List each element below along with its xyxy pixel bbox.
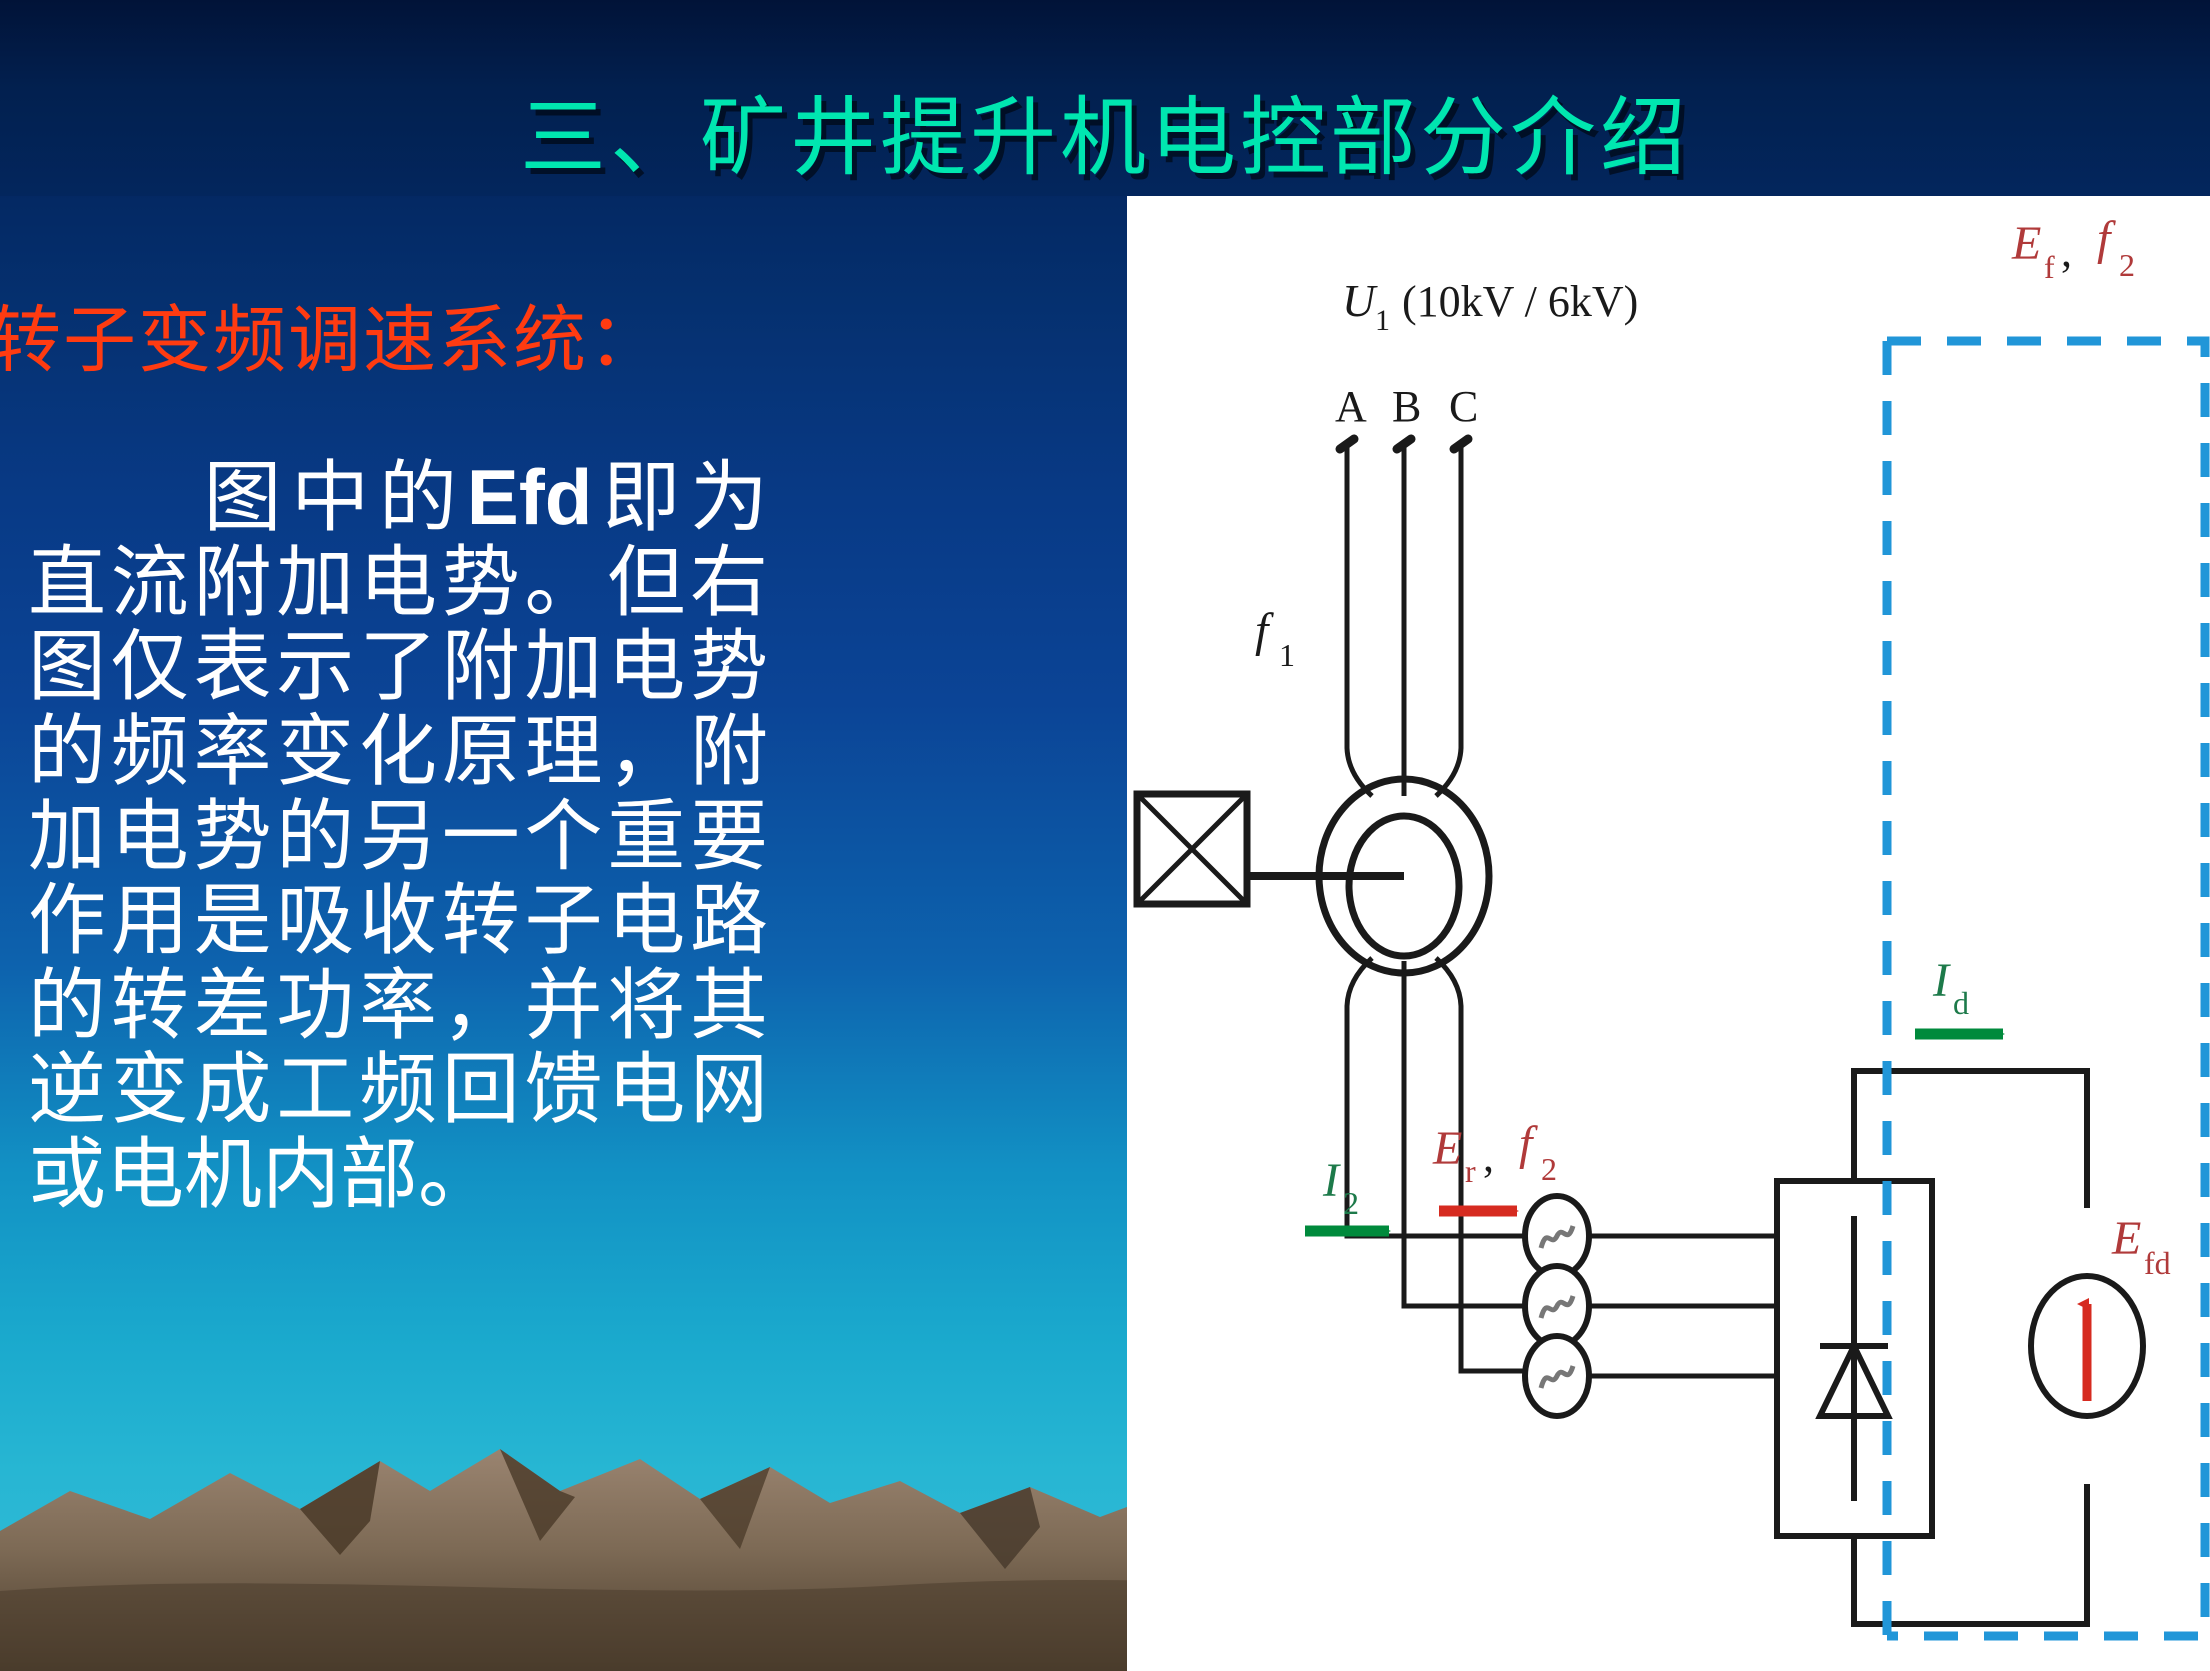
label-rotor-emf-sub: r: [1465, 1153, 1476, 1189]
label-phase-a: A: [1335, 382, 1367, 431]
label-rotor-current-sub: 2: [1343, 1185, 1359, 1221]
label-rotor-freq: f: [1519, 1117, 1538, 1170]
label-freq-primary-sub: 1: [1279, 637, 1295, 673]
thyristor-symbol: [1820, 1216, 1888, 1501]
body-text-bold: Efd: [467, 453, 593, 541]
label-phase-b: B: [1392, 382, 1421, 431]
label-freq-primary: f: [1255, 604, 1274, 657]
label-supply-voltage-paren: (10kV / 6kV): [1402, 277, 1638, 326]
label-added-emf-field-comma: ,: [2061, 227, 2072, 276]
label-phase-c: C: [1449, 382, 1478, 431]
label-added-emf-field-sub: f: [2044, 249, 2055, 285]
label-rotor-emf-comma: ,: [1483, 1132, 1494, 1181]
body-paragraph: 图中的Efd即为直流附加电势。但右图仅表示了附加电势的频率变化原理，附加电势的另…: [28, 455, 768, 1218]
label-added-emf-dc-sub: fd: [2144, 1245, 2171, 1281]
ac-source-symbols: [1525, 1196, 1589, 1416]
circuit-diagram-svg: U 1 (10kV / 6kV) A B C f 1: [1127, 196, 2210, 1671]
label-dc-current: I: [1932, 954, 1951, 1007]
slide-root: 三、矿井提升机电控部分介绍 转子变频调速系统： 图中的Efd即为直流附加电势。但…: [0, 0, 2210, 1671]
section-subheading: 转子变频调速系统：: [0, 304, 663, 377]
label-rotor-current: I: [1322, 1154, 1341, 1207]
label-rotor-freq-sub: 2: [1541, 1151, 1557, 1187]
motor-rotor: [1349, 816, 1459, 956]
label-added-emf-field: E: [2011, 217, 2041, 270]
label-added-emf-freq: f: [2097, 212, 2116, 265]
supply-lines: [1347, 446, 1461, 796]
label-dc-current-sub: d: [1953, 985, 1969, 1021]
load-box: [1137, 794, 1247, 904]
circuit-diagram-panel: U 1 (10kV / 6kV) A B C f 1: [1127, 196, 2210, 1671]
body-text-after: 即为直流附加电势。但右图仅表示了附加电势的频率变化原理，附加电势的另一个重要作用…: [28, 454, 768, 1218]
label-supply-voltage: U: [1342, 275, 1378, 326]
label-added-emf-dc: E: [2111, 1212, 2141, 1265]
converter-input-lines: [1589, 1236, 1777, 1376]
page-title: 三、矿井提升机电控部分介绍: [0, 95, 2210, 181]
label-supply-voltage-sub: 1: [1375, 304, 1390, 337]
label-added-emf-freq-sub: 2: [2119, 247, 2135, 283]
body-text-before: 图中的: [28, 454, 467, 541]
label-rotor-emf: E: [1432, 1122, 1462, 1175]
